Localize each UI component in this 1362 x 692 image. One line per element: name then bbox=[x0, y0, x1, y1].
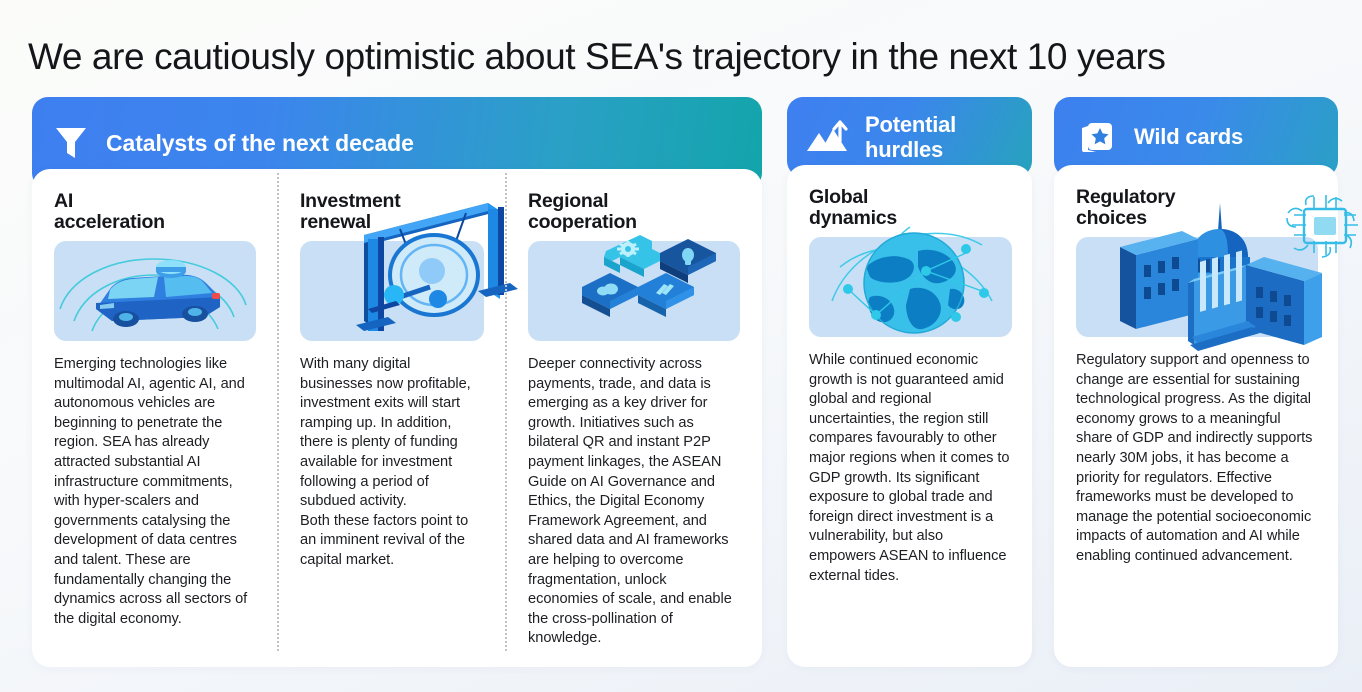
column-text-ai-acceleration: Emerging technologies like multimodal AI… bbox=[54, 355, 256, 629]
hurdles-card: Global dynamics bbox=[787, 165, 1032, 667]
panel-hurdles-title: Potential hurdles bbox=[865, 112, 1032, 162]
gong-illustration bbox=[300, 241, 484, 341]
column-ai-acceleration: AI acceleration bbox=[32, 187, 278, 667]
funnel-icon bbox=[54, 124, 88, 162]
autonomous-car-illustration bbox=[54, 241, 256, 341]
slide-root: We are cautiously optimistic about SEA's… bbox=[0, 0, 1362, 692]
catalysts-card: AI acceleration bbox=[32, 169, 762, 667]
column-text-regional-cooperation: Deeper connectivity across payments, tra… bbox=[528, 355, 740, 649]
wild-cards-card: Regulatory choices bbox=[1054, 165, 1338, 667]
column-title-ai-acceleration: AI acceleration bbox=[54, 191, 256, 233]
column-regional-cooperation: Regional cooperation bbox=[506, 187, 762, 667]
column-investment-renewal: Investment renewal bbox=[278, 187, 506, 667]
government-building-chip-illustration bbox=[1076, 237, 1318, 337]
panel-wild-title: Wild cards bbox=[1134, 124, 1243, 150]
puzzle-pieces-illustration bbox=[528, 241, 740, 341]
panel-catalysts: Catalysts of the next decade AI accelera… bbox=[32, 97, 762, 667]
column-text-investment-renewal: With many digital businesses now profita… bbox=[300, 355, 484, 571]
page-title: We are cautiously optimistic about SEA's… bbox=[28, 33, 1328, 81]
mountain-arrow-icon bbox=[805, 117, 851, 157]
column-text-global-dynamics: While continued economic growth is not g… bbox=[809, 351, 1012, 586]
panel-wild-cards: Wild cards Regulatory choices bbox=[1054, 97, 1338, 667]
cards-star-icon bbox=[1076, 118, 1116, 156]
column-text-regulatory-choices: Regulatory support and openness to chang… bbox=[1076, 351, 1318, 567]
panel-potential-hurdles: Potential hurdles Global dynamics bbox=[787, 97, 1032, 667]
globe-network-illustration bbox=[809, 237, 1012, 337]
panel-catalysts-title: Catalysts of the next decade bbox=[106, 130, 414, 157]
